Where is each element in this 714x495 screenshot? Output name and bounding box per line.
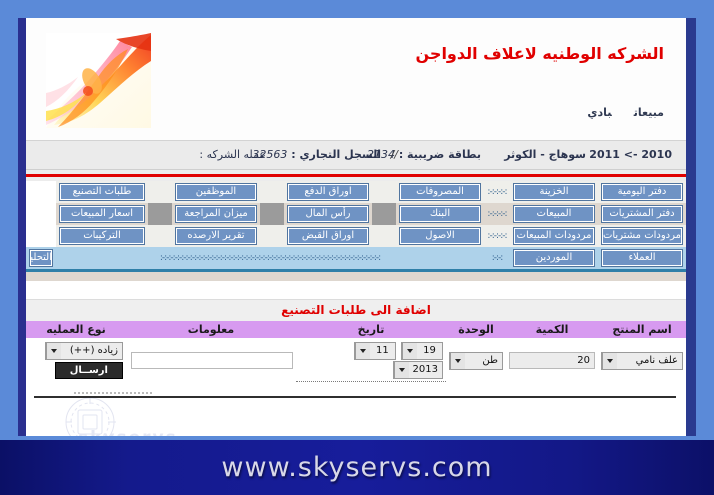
menu-button[interactable]: مردودات المبيعات — [513, 227, 595, 245]
menu-cell: الموردين — [510, 247, 598, 269]
menu-button[interactable]: الاصول — [399, 227, 481, 245]
date-month-value: 11 — [370, 343, 395, 359]
cell-info — [126, 338, 296, 382]
tax-card-field: بطاقة ضريبية : 2134 — [367, 148, 481, 161]
menu-cell: دفتر المشتريات — [598, 203, 686, 225]
menu-cell: الخزينة — [510, 181, 598, 203]
chevron-down-icon — [46, 343, 61, 359]
commercial-register-label: السجل التجاري : — [291, 148, 381, 161]
company-logo — [46, 33, 151, 128]
form-header-row: اسم المنتج الكمية الوحدة تاريخ معلومات ن… — [26, 321, 686, 338]
cell-operation: زياده (++) ارســال — [26, 338, 126, 382]
menu-cell: البنك — [396, 203, 484, 225]
menu-button[interactable]: العملاء — [601, 249, 683, 267]
menu-button[interactable]: مردودات مشتريات — [601, 227, 683, 245]
menu-button[interactable]: المصروفات — [399, 183, 481, 201]
menu-cell: دفتر اليومية — [598, 181, 686, 203]
menu-button[interactable]: الموظفين — [175, 183, 257, 201]
menu-button[interactable]: طلبات التصنيع — [59, 183, 145, 201]
menu-cell: اسعار المبيعات — [56, 203, 148, 225]
menu-spacer — [372, 225, 396, 247]
menu-cell: المصروفات — [396, 181, 484, 203]
menu-button[interactable]: دفتر المشتريات — [601, 205, 683, 223]
menu-cell: الاصول — [396, 225, 484, 247]
cell-product: علف نامي — [598, 338, 686, 382]
col-quantity: الكمية — [506, 321, 598, 338]
menu-spacer — [148, 225, 172, 247]
col-date: تاريخ — [296, 321, 446, 338]
menu-dashed-filler: :-:-:-:-:-:-:-:-:-:-:-:-:-:-:-:-:-:-:-:-… — [56, 247, 484, 269]
date-day-value: 19 — [417, 343, 442, 359]
menu-row: مردودات مشترياتمردودات المبيعات:-:-:-:-:… — [26, 225, 686, 247]
menu-body: دفتر اليوميةالخزينة:-:-:-:-:المصروفاتاور… — [26, 181, 686, 269]
menu-button[interactable]: الخزينة — [513, 183, 595, 201]
unit-select[interactable]: طن — [449, 352, 503, 370]
chevron-down-icon — [602, 353, 617, 369]
info-input[interactable] — [131, 352, 293, 369]
app-window: الشركه الوطنيه لاعلاف الدواجن مبيعاتبادي… — [18, 18, 696, 477]
menu-spacer — [148, 181, 172, 203]
page-header: الشركه الوطنيه لاعلاف الدواجن مبيعاتبادي — [26, 18, 686, 140]
menu-button[interactable]: رأس المال — [287, 205, 369, 223]
menu-cell: مردودات مشتريات — [598, 225, 686, 247]
submit-button[interactable]: ارســال — [55, 362, 123, 379]
col-unit: الوحدة — [446, 321, 506, 338]
menu-dashed-filler: :-:-:-:-: — [484, 225, 510, 247]
menu-cell: ميزان المراجعة — [172, 203, 260, 225]
menu-cell: التركيبات — [56, 225, 148, 247]
nav-item-sales[interactable]: مبيعات — [634, 106, 664, 119]
menu-button[interactable]: اوراق الدفع — [287, 183, 369, 201]
company-info-bar: 2010 -> 2011 سوهاج - الكوثر بطاقة ضريبية… — [26, 140, 686, 170]
date-year-select[interactable]: 2013 — [393, 361, 443, 379]
operation-type-select[interactable]: زياده (++) — [45, 342, 123, 360]
form-input-row: علف نامي 20 طن — [26, 338, 686, 382]
menu-cell: اوراق القبض — [284, 225, 372, 247]
module-menu-grid: دفتر اليوميةالخزينة:-:-:-:-:المصروفاتاور… — [26, 181, 686, 269]
menu-button[interactable]: التحليل الكيمائي — [29, 249, 53, 267]
menu-button[interactable]: ميزان المراجعة — [175, 205, 257, 223]
main-nav: مبيعاتبادي — [565, 106, 664, 119]
menu-row: دفتر المشترياتالمبيعات:-:-:-:-:البنكرأس … — [26, 203, 686, 225]
left-accent-bar — [18, 18, 26, 438]
menu-spacer — [260, 181, 284, 203]
menu-dashed-filler: :-:-:-:-: — [484, 203, 510, 225]
chevron-down-icon — [355, 343, 370, 359]
menu-cell: مردودات المبيعات — [510, 225, 598, 247]
menu-dashed-filler: :-:-: — [484, 247, 510, 269]
menu-row: العملاءالموردين:-:-::-:-:-:-:-:-:-:-:-:-… — [26, 247, 686, 269]
quantity-input[interactable]: 20 — [509, 352, 595, 369]
cell-quantity: 20 — [506, 338, 598, 382]
tax-card-label: بطاقة ضريبية : — [399, 148, 481, 161]
menu-cell: التحليل الكيمائي — [26, 247, 56, 269]
manufacturing-request-form: اسم المنتج الكمية الوحدة تاريخ معلومات ن… — [26, 321, 686, 382]
info-separator: // — [391, 148, 398, 161]
menu-dashed-filler: :-:-:-:-: — [484, 181, 510, 203]
product-select-value: علف نامي — [617, 353, 682, 369]
menu-cell: طلبات التصنيع — [56, 181, 148, 203]
form-section: اضافة الى طلبات التصنيع اسم المنتج الكمي… — [26, 281, 686, 382]
menu-bottom-gap — [26, 272, 686, 281]
unit-select-value: طن — [465, 353, 502, 369]
menu-spacer — [260, 203, 284, 225]
menu-spacer — [148, 203, 172, 225]
product-select[interactable]: علف نامي — [601, 352, 683, 370]
menu-cell: العملاء — [598, 247, 686, 269]
right-accent-bar — [686, 18, 696, 438]
menu-cell: رأس المال — [284, 203, 372, 225]
company-currency-label: عمله الشركه : — [199, 148, 266, 161]
menu-button[interactable]: المبيعات — [513, 205, 595, 223]
commercial-register-field: السجل التجاري : 32563 — [252, 148, 381, 161]
menu-button[interactable]: اوراق القبض — [287, 227, 369, 245]
page-content: الشركه الوطنيه لاعلاف الدواجن مبيعاتبادي… — [26, 18, 686, 438]
chevron-down-icon — [450, 353, 465, 369]
menu-button[interactable]: الموردين — [513, 249, 595, 267]
menu-button[interactable]: التركيبات — [59, 227, 145, 245]
menu-cell: تقرير الارصده — [172, 225, 260, 247]
menu-row: دفتر اليوميةالخزينة:-:-:-:-:المصروفاتاور… — [26, 181, 686, 203]
menu-spacer — [260, 225, 284, 247]
menu-spacer — [372, 203, 396, 225]
date-month-select[interactable]: 11 — [354, 342, 396, 360]
menu-spacer — [372, 181, 396, 203]
menu-cell: اوراق الدفع — [284, 181, 372, 203]
bottom-rule — [34, 396, 676, 398]
branch-name: سوهاج - الكوثر — [504, 148, 586, 161]
page-title: الشركه الوطنيه لاعلاف الدواجن — [416, 44, 664, 63]
chevron-down-icon — [394, 362, 409, 378]
menu-button[interactable]: دفتر اليومية — [601, 183, 683, 201]
col-operation-type: نوع العمليه — [26, 321, 126, 338]
form-title: اضافة الى طلبات التصنيع — [26, 299, 686, 321]
menu-button[interactable]: تقرير الارصده — [175, 227, 257, 245]
nav-item-badi[interactable]: بادي — [587, 106, 611, 119]
col-product: اسم المنتج — [598, 321, 686, 338]
menu-button[interactable]: البنك — [399, 205, 481, 223]
menu-cell: الموظفين — [172, 181, 260, 203]
page-footer: www.skyservs.com — [0, 440, 714, 495]
cell-unit: طن — [446, 338, 506, 382]
fiscal-year-range: 2010 -> 2011 — [589, 148, 672, 161]
operation-type-value: زياده (++) — [61, 343, 122, 359]
date-day-select[interactable]: 19 — [401, 342, 443, 360]
footer-url: www.skyservs.com — [0, 440, 714, 495]
date-year-value: 2013 — [409, 362, 442, 378]
chevron-down-icon — [402, 343, 417, 359]
menu-button[interactable]: اسعار المبيعات — [59, 205, 145, 223]
dotted-rule — [74, 392, 152, 394]
menu-cell: المبيعات — [510, 203, 598, 225]
col-info: معلومات — [126, 321, 296, 338]
cell-date: 19 11 2013 — [296, 338, 446, 382]
